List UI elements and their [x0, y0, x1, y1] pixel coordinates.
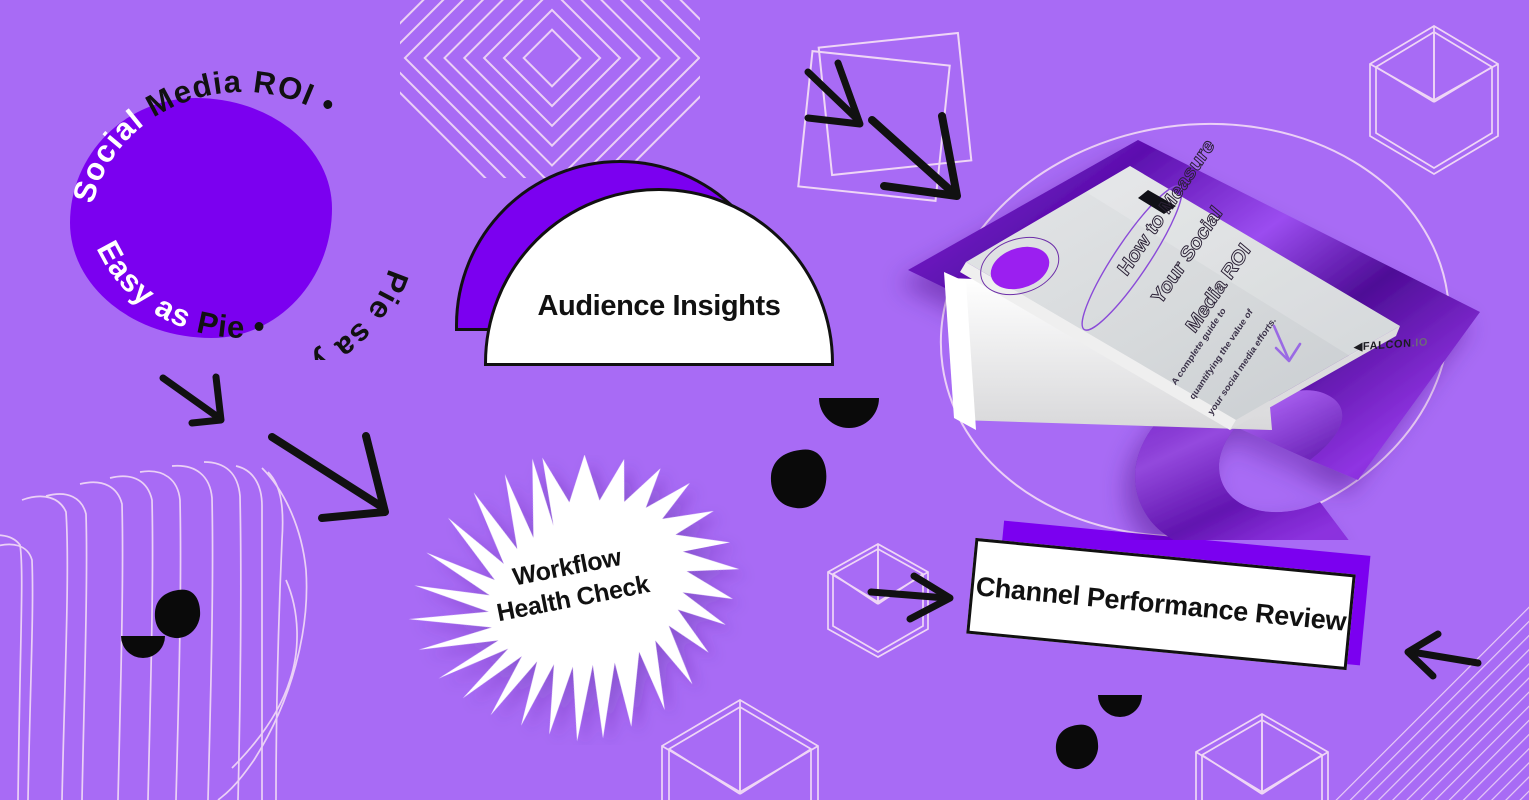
dome-label: Audience Insights: [538, 290, 781, 323]
poster-canvas: Social Media ROI • Pie sa ysaE Easy as P: [0, 0, 1529, 800]
svg-text:Easy as Pie •: Easy as Pie •: [90, 235, 268, 345]
social-media-roi-badge: Social Media ROI • Pie sa ysaE Easy as P: [60, 60, 420, 360]
arrow-left-bottom-right: [1408, 634, 1478, 676]
ribbon-label: Channel Performance Review: [974, 571, 1347, 637]
wireframe-cube-bottom-left-of-center: [828, 544, 928, 657]
black-dome-center: [819, 398, 879, 428]
audience-insights-dome[interactable]: Audience Insights: [455, 160, 845, 365]
arrow-down-right-small-top: [808, 63, 860, 124]
shell-fan-outline-left: [0, 462, 307, 800]
black-blob-left: [155, 590, 200, 638]
wireframe-cube-bottom-right: [1196, 714, 1328, 800]
arrow-down-right-small-left: [163, 377, 221, 423]
black-dome-left: [121, 636, 165, 658]
ebook-cover-mockup[interactable]: How to Measure Your Social Media ROI A c…: [880, 130, 1500, 540]
channel-performance-review-banner[interactable]: Channel Performance Review: [960, 528, 1380, 703]
badge-ring-text-bottom: Easy as Pie •: [60, 60, 420, 360]
arrow-right-center: [871, 576, 950, 619]
workflow-health-check-burst[interactable]: Workflow Health Check: [355, 455, 785, 745]
black-blob-bottom: [1056, 725, 1098, 769]
book-artwork: [880, 130, 1500, 540]
